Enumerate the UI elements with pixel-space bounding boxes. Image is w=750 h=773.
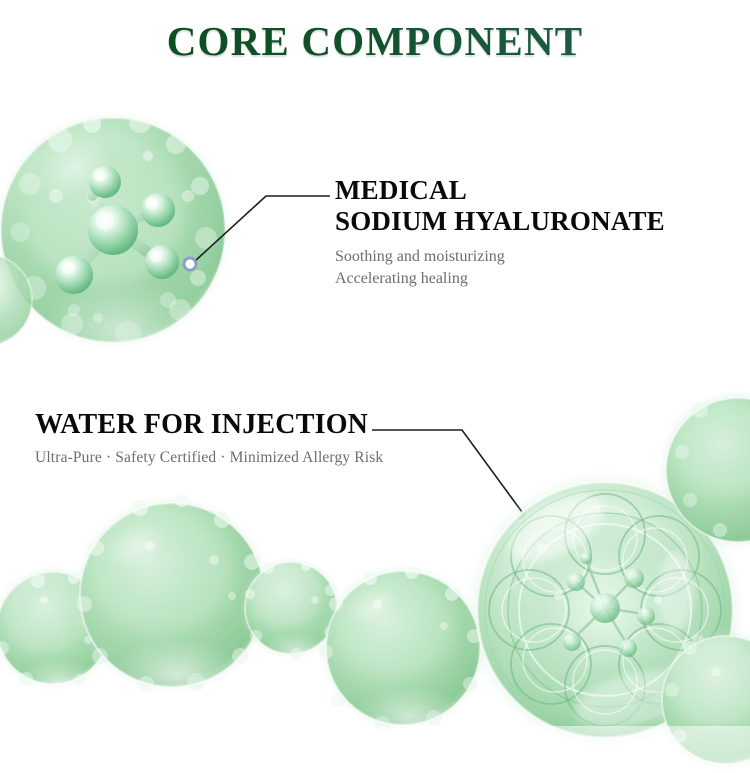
callout-1-heading-line2: SODIUM HYALURONATE	[335, 206, 735, 237]
leader-marker-medical	[183, 257, 198, 272]
page-title: CORE COMPONENT	[0, 16, 750, 66]
callout-water-for-injection: WATER FOR INJECTION Ultra-Pure · Safety …	[35, 408, 505, 468]
callout-2-subtext: Ultra-Pure · Safety Certified · Minimize…	[35, 447, 505, 468]
infographic-page: CORE COMPONENT CORE COMPONENT MEDICAL SO…	[0, 0, 750, 773]
molecule-sphere-graphic	[0, 111, 231, 356]
callout-1-subtext: Soothing and moisturizing Accelerating h…	[335, 246, 735, 290]
callout-1-sub-line2: Accelerating healing	[335, 268, 735, 290]
artwork-layer	[0, 0, 750, 773]
bubble-large-center	[74, 493, 270, 693]
callout-1-sub-line1: Soothing and moisturizing	[335, 246, 735, 268]
callout-2-heading: WATER FOR INJECTION	[35, 408, 505, 442]
callout-1-heading-line1: MEDICAL	[335, 175, 735, 206]
bubble-right-chain	[319, 565, 485, 732]
callout-medical-sodium-hyaluronate: MEDICAL SODIUM HYALURONATE Soothing and …	[335, 175, 735, 290]
